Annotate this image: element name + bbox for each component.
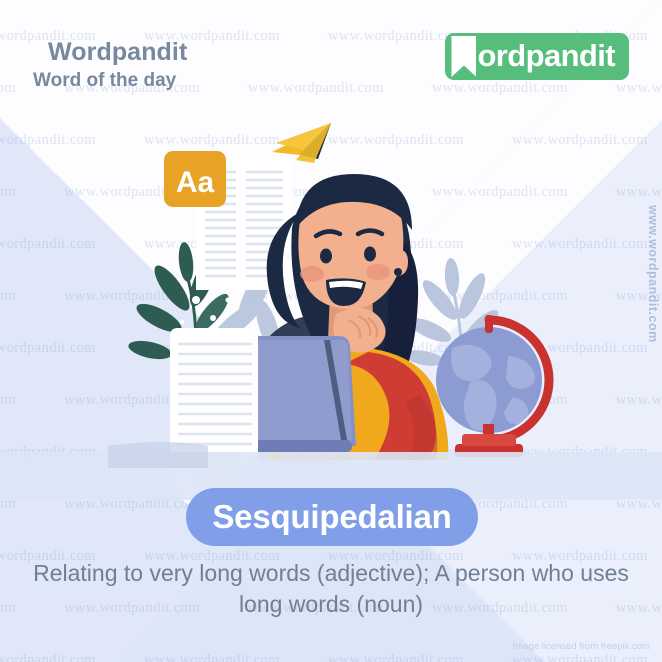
cheek-left	[300, 266, 324, 282]
aa-card: Aa	[164, 151, 226, 207]
logo-label: ordpandit	[477, 40, 615, 71]
svg-text:Aa: Aa	[176, 166, 215, 199]
word-pill: Sesquipedalian	[186, 488, 478, 546]
brand-title: Wordpandit	[48, 38, 187, 67]
word-definition: Relating to very long words (adjective);…	[0, 558, 662, 619]
paper-airplane-icon	[272, 123, 331, 163]
wordpandit-logo[interactable]: ordpandit	[445, 33, 629, 80]
word-of-the-day-card: www.wordpandit.comwww.wordpandit.comwww.…	[0, 0, 662, 662]
image-credit: Image licensed from freepik.com	[513, 641, 650, 652]
brand-subtitle: Word of the day	[33, 70, 176, 92]
desk-shadow	[108, 442, 208, 468]
bookmark-w-icon	[451, 36, 476, 77]
word-term: Sesquipedalian	[212, 498, 451, 536]
eye-right	[364, 247, 376, 262]
globe	[436, 315, 549, 457]
cheek-right	[366, 264, 390, 280]
earring	[394, 268, 402, 276]
eye-left	[320, 249, 332, 264]
